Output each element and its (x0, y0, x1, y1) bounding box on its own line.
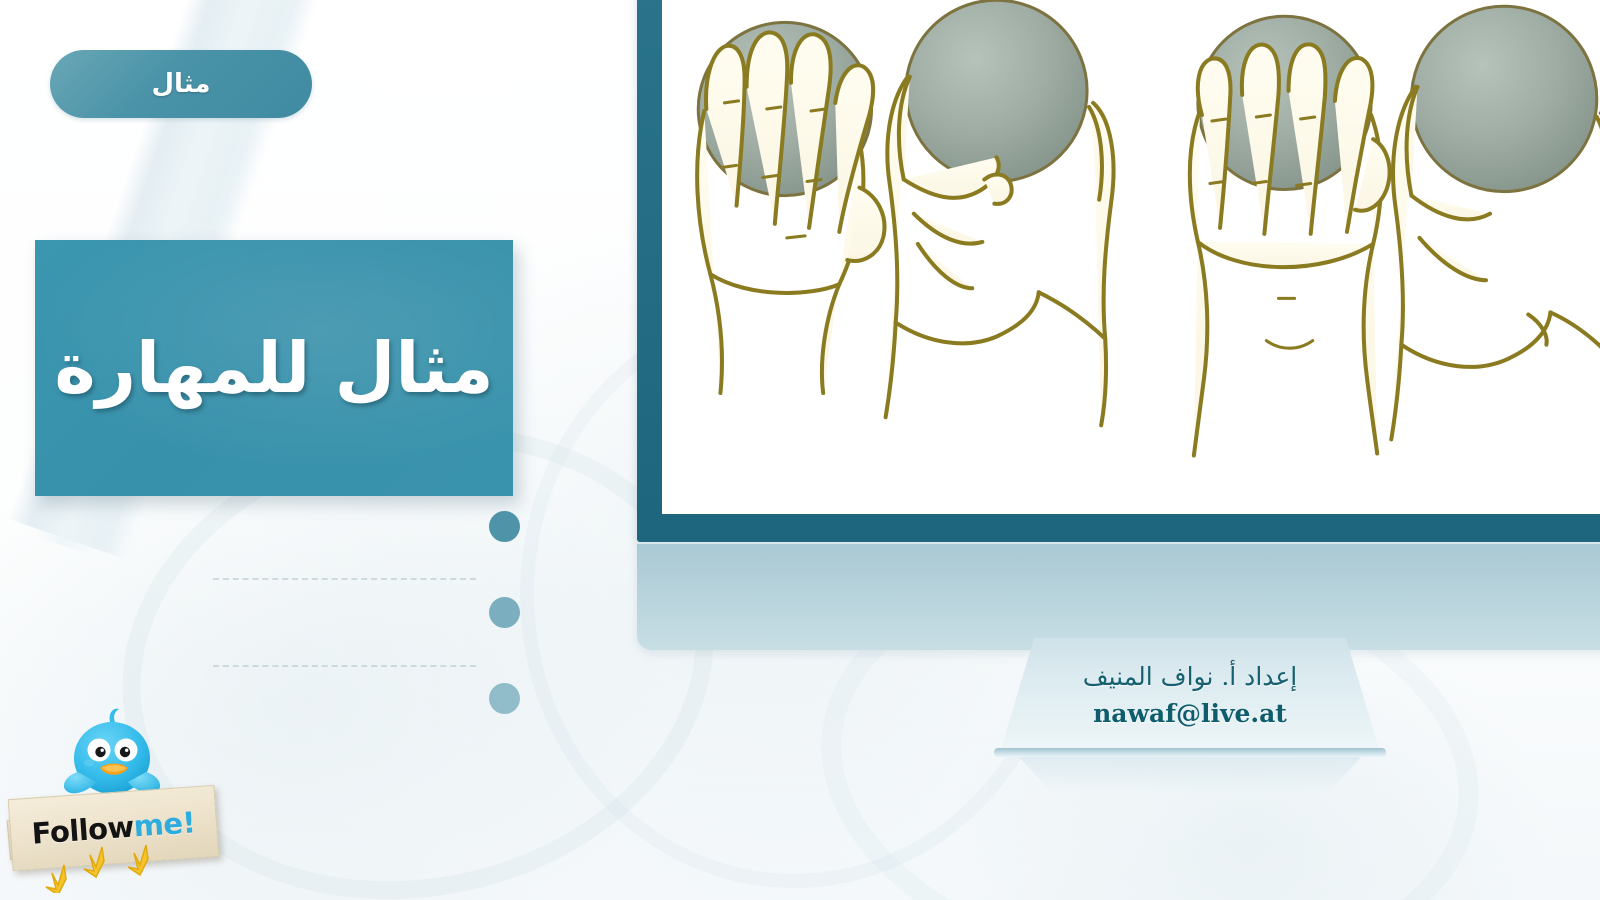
monitor-graphic (637, 0, 1600, 542)
credit-author: إعداد أ. نواف المنيف (1083, 662, 1298, 691)
follow-text-secondary: me! (133, 805, 197, 843)
monitor-stand-base: إعداد أ. نواف المنيف nawaf@live.at (1000, 638, 1380, 752)
follow-label: Followme! (31, 805, 197, 850)
badge-example[interactable]: مثال (50, 50, 312, 118)
hand-grip-4 (1391, 6, 1600, 449)
dashed-rule-1 (213, 578, 476, 580)
badge-label: مثال (151, 69, 210, 99)
hand-grip-1 (697, 22, 884, 393)
monitor-screen (662, 0, 1600, 514)
follow-me-badge[interactable]: Followme! (8, 700, 228, 890)
hands-ball-illustration (662, 0, 1600, 514)
bird-feet-icon (18, 845, 218, 893)
bullet-dot-1[interactable] (489, 511, 520, 542)
page-title: مثال للمهارة (54, 327, 493, 409)
monitor-stand-rail (994, 748, 1386, 757)
credit-email[interactable]: nawaf@live.at (1093, 699, 1287, 728)
bullet-dot-2[interactable] (489, 597, 520, 628)
slide-canvas: مثال مثال للمهارة (0, 0, 1600, 900)
bullet-dot-3[interactable] (489, 683, 520, 714)
hand-grip-2 (886, 0, 1114, 425)
dashed-rule-2 (213, 665, 476, 667)
monitor-stand-reflection (1008, 757, 1372, 793)
hand-grip-3 (1190, 16, 1390, 455)
monitor-chin (637, 542, 1600, 650)
title-box: مثال للمهارة (35, 240, 513, 496)
